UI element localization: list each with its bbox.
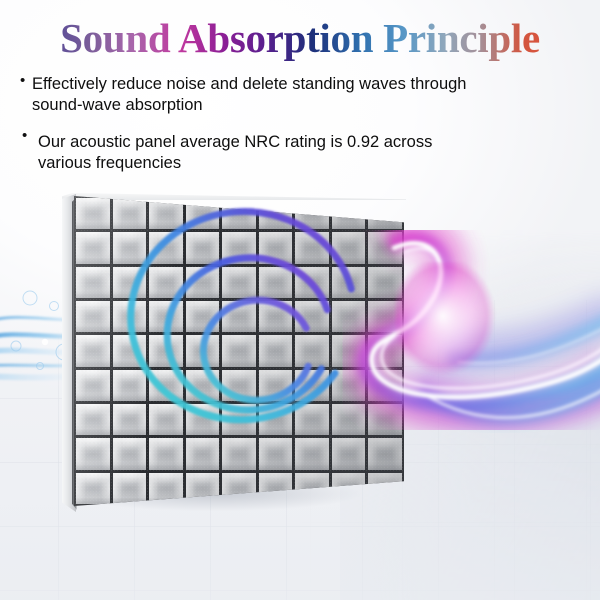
panel-tile [222,198,256,229]
panel-tile [295,438,329,469]
panel-tile [295,301,329,332]
panel-tile [368,301,402,332]
panel-tile [113,232,147,263]
panel-tile [332,438,366,469]
panel-tile [222,473,256,504]
panel-tile [186,404,220,435]
panel-tile [295,404,329,435]
panel-tile [295,267,329,298]
panel-tile [368,198,402,229]
bullet-list: Effectively reduce noise and delete stan… [20,74,490,190]
panel-tile [332,198,366,229]
panel-tile [76,232,110,263]
panel-tile [222,404,256,435]
panel-tile [186,198,220,229]
panel-tile [259,370,293,401]
list-item: Effectively reduce noise and delete stan… [20,74,490,116]
panel-tile [295,473,329,504]
slide-canvas: Sound Absorption Principle Effectively r… [0,0,600,600]
panel-tile [222,370,256,401]
panel-tile [368,438,402,469]
page-title: Sound Absorption Principle [0,14,600,62]
panel-tile [149,198,183,229]
bullet-text: Our acoustic panel average NRC rating is… [34,132,490,174]
panel-tile [76,198,110,229]
panel-tile [186,267,220,298]
panel-tile [186,473,220,504]
panel-tile [368,370,402,401]
panel-tile [149,473,183,504]
panel-tile [186,232,220,263]
panel-tile [113,335,147,366]
panel-tile [76,335,110,366]
panel-tile [332,301,366,332]
panel-tile [368,267,402,298]
panel-tile [222,335,256,366]
panel-tile [76,473,110,504]
panel-tile [222,301,256,332]
panel-tile [259,404,293,435]
panel-tile [186,370,220,401]
panel-tile [76,301,110,332]
panel-tile [368,404,402,435]
panel-tile [149,267,183,298]
panel-tile [76,370,110,401]
panel-tile [259,267,293,298]
panel-tile [149,370,183,401]
panel-tile [222,438,256,469]
panel-tile [259,198,293,229]
panel-tile [295,335,329,366]
panel-tile [259,301,293,332]
panel-tile [186,301,220,332]
panel-tile [332,232,366,263]
panel-tile [368,473,402,504]
panel-tile [259,335,293,366]
panel-tile [295,370,329,401]
panel-tile [113,198,147,229]
list-item: Our acoustic panel average NRC rating is… [22,132,490,174]
panel-tile [222,267,256,298]
panel-tile [149,232,183,263]
panel-tile [113,404,147,435]
panel-tile [332,335,366,366]
panel-tile [76,404,110,435]
panel-tile [259,473,293,504]
panel-tile [149,404,183,435]
panel-tile [113,438,147,469]
panel-tile [186,438,220,469]
panel-tile [149,335,183,366]
panel-tile [259,438,293,469]
panel-tile [259,232,293,263]
panel-tile [332,267,366,298]
panel-tile [332,370,366,401]
panel-tile [332,404,366,435]
panel-tile [222,232,256,263]
panel-tile [295,232,329,263]
panel-tile-grid [74,196,404,506]
panel-tile [368,232,402,263]
panel-tile [113,301,147,332]
panel-tile [149,438,183,469]
panel-tile [186,335,220,366]
panel-tile [368,335,402,366]
bullet-text: Effectively reduce noise and delete stan… [32,74,490,116]
panel-tile [113,370,147,401]
panel-tile [149,301,183,332]
panel-tile [76,438,110,469]
panel-tile [295,198,329,229]
panel-tile [76,267,110,298]
panel-tile [113,267,147,298]
panel-tile [332,473,366,504]
panel-front-face [74,196,404,506]
panel-tile [113,473,147,504]
